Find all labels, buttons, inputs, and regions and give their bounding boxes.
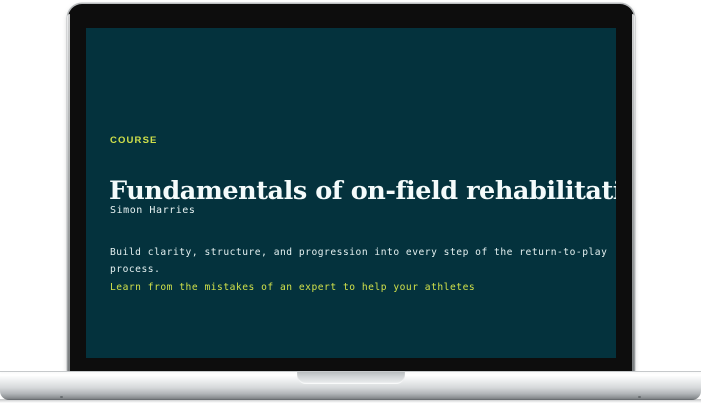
course-title: Fundamentals of on-field rehabilitation: [109, 177, 616, 206]
slide-content: COURSE Fundamentals of on-field rehabili…: [110, 28, 606, 358]
screenshot-canvas: COURSE Fundamentals of on-field rehabili…: [0, 0, 701, 405]
laptop-foot-right: [638, 396, 641, 398]
laptop-screen: COURSE Fundamentals of on-field rehabili…: [86, 28, 616, 358]
course-description: Build clarity, structure, and progressio…: [110, 244, 616, 278]
course-tagline: Learn from the mistakes of an expert to …: [110, 283, 475, 293]
laptop-foot-left: [60, 396, 63, 398]
lid-edge-left: [67, 14, 70, 371]
course-author: Simon Harries: [110, 206, 195, 216]
course-eyebrow-label: COURSE: [110, 136, 158, 146]
laptop-base-notch: [297, 372, 405, 384]
laptop-base: [0, 371, 701, 400]
lid-edge-right: [632, 14, 635, 371]
laptop-lid: COURSE Fundamentals of on-field rehabili…: [68, 4, 634, 373]
laptop-drop-shadow: [0, 399, 701, 403]
